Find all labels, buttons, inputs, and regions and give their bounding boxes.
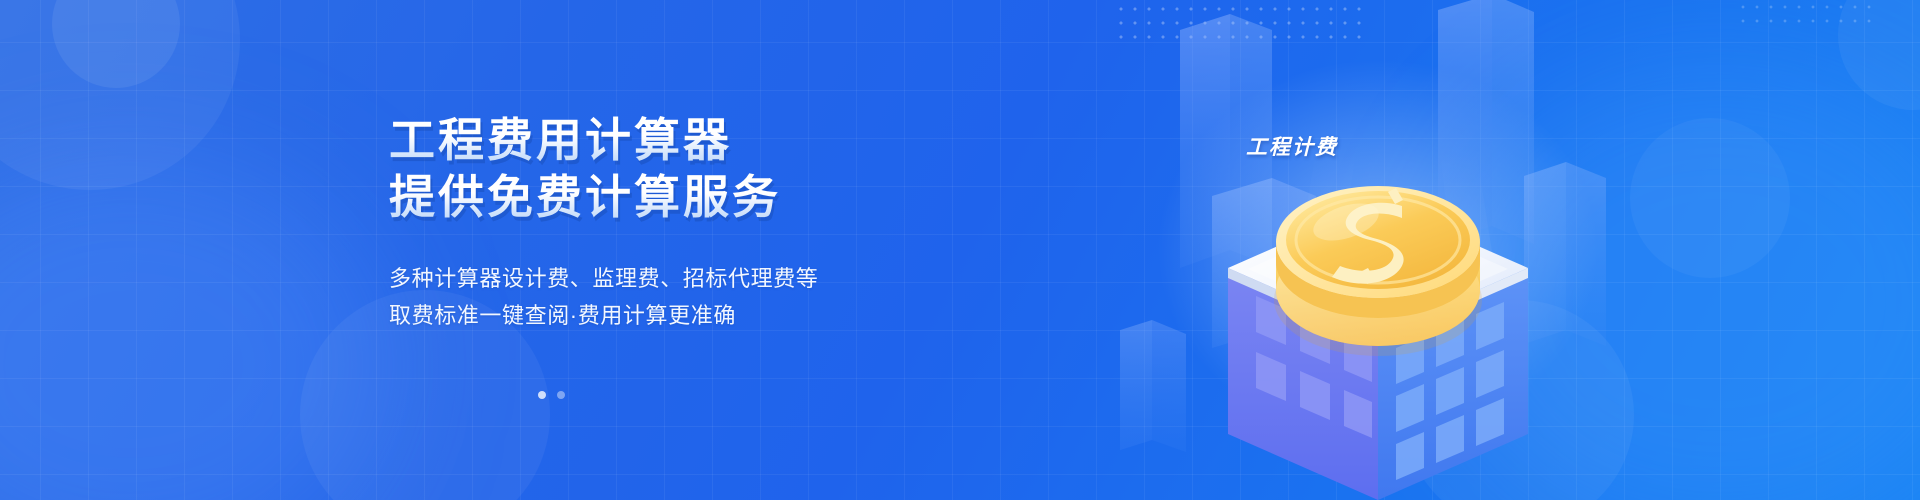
headline-line-2: 提供免费计算服务 bbox=[389, 169, 1009, 226]
carousel-indicator[interactable] bbox=[538, 391, 565, 399]
gold-coin bbox=[1274, 186, 1482, 356]
illustration-engineering-fee: 工程计费 bbox=[1120, 0, 1640, 500]
hero-banner: 工程费用计算器 提供免费计算服务 多种计算器设计费、监理费、招标代理费等 取费标… bbox=[0, 0, 1920, 500]
dot-pattern-corner-right bbox=[1736, 0, 1876, 30]
headline-line-1: 工程费用计算器 bbox=[389, 112, 1009, 169]
decorative-circle-mid-right bbox=[1630, 118, 1790, 278]
carousel-dot-1[interactable] bbox=[538, 391, 546, 399]
subtitle-line-1: 多种计算器设计费、监理费、招标代理费等 bbox=[389, 260, 1009, 297]
carousel-dot-2[interactable] bbox=[557, 391, 565, 399]
subtitle-line-2: 取费标准一键查阅·费用计算更准确 bbox=[389, 297, 1009, 334]
illustration-badge-label: 工程计费 bbox=[1246, 131, 1338, 161]
banner-copy: 工程费用计算器 提供免费计算服务 多种计算器设计费、监理费、招标代理费等 取费标… bbox=[389, 112, 1009, 334]
banner-subtitle: 多种计算器设计费、监理费、招标代理费等 取费标准一键查阅·费用计算更准确 bbox=[389, 260, 1009, 334]
